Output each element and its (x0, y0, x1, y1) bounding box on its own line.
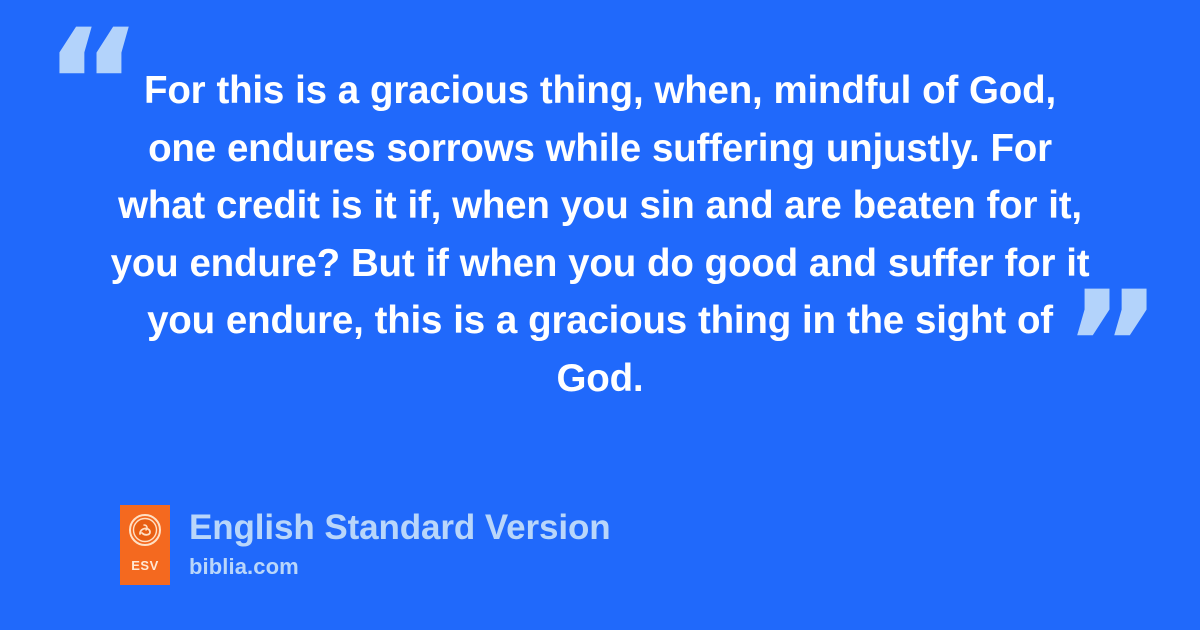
seal-icon (129, 514, 161, 551)
attribution-text: English Standard Version biblia.com (189, 505, 611, 581)
site-url[interactable]: biblia.com (189, 553, 611, 581)
esv-abbreviation: ESV (131, 558, 159, 573)
quote-text: For this is a gracious thing, when, mind… (110, 62, 1090, 407)
esv-logo: ESV (120, 505, 170, 585)
attribution: ESV English Standard Version biblia.com (120, 505, 611, 585)
bible-version-name: English Standard Version (189, 507, 611, 549)
quote-block: For this is a gracious thing, when, mind… (110, 62, 1090, 407)
